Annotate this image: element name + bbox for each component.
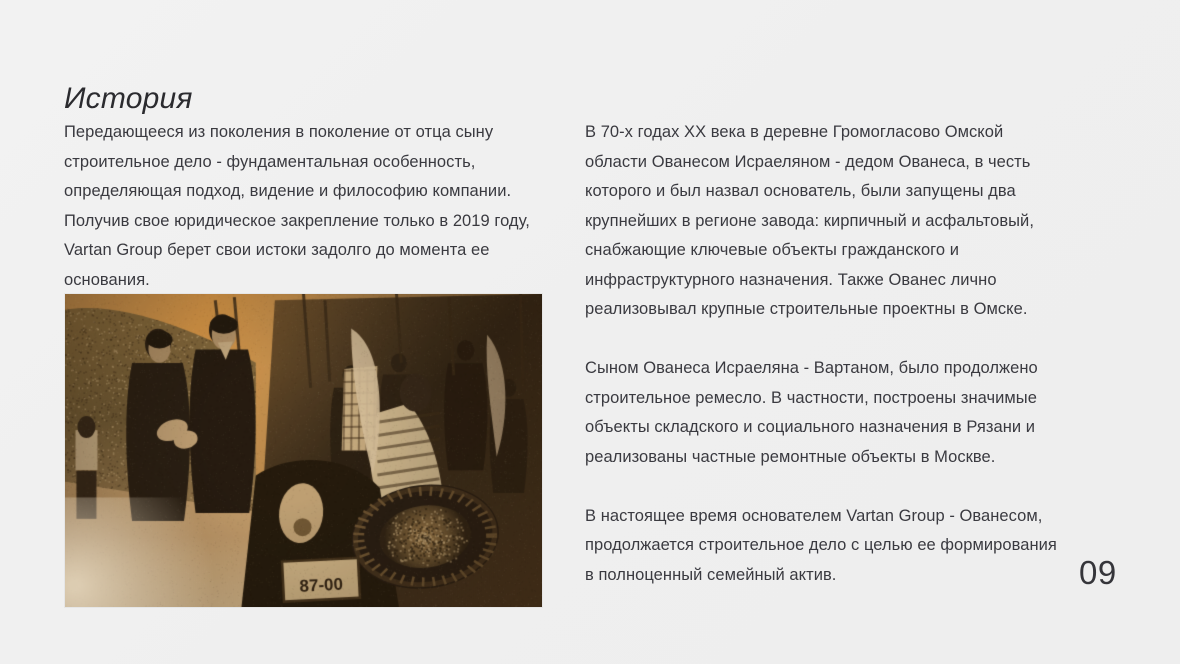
right-column-paragraph-1: В 70-х годах XX века в деревне Громоглас…	[585, 118, 1063, 325]
slide-history: История Передающееся из поколения в поко…	[0, 0, 1180, 664]
photograph-image	[65, 294, 542, 607]
page-number: 09	[1079, 556, 1117, 589]
right-column-paragraph-3: В настоящее время основателем Vartan Gro…	[585, 502, 1063, 591]
right-text-column: В 70-х годах XX века в деревне Громоглас…	[585, 118, 1063, 590]
right-column-paragraph-2: Сыном Ованеса Исраеляна - Вартаном, было…	[585, 354, 1063, 472]
left-text-column: Передающееся из поколения в поколение от…	[64, 118, 544, 295]
history-photograph	[65, 294, 542, 607]
page-title: История	[64, 82, 193, 115]
left-column-paragraph: Передающееся из поколения в поколение от…	[64, 118, 544, 295]
